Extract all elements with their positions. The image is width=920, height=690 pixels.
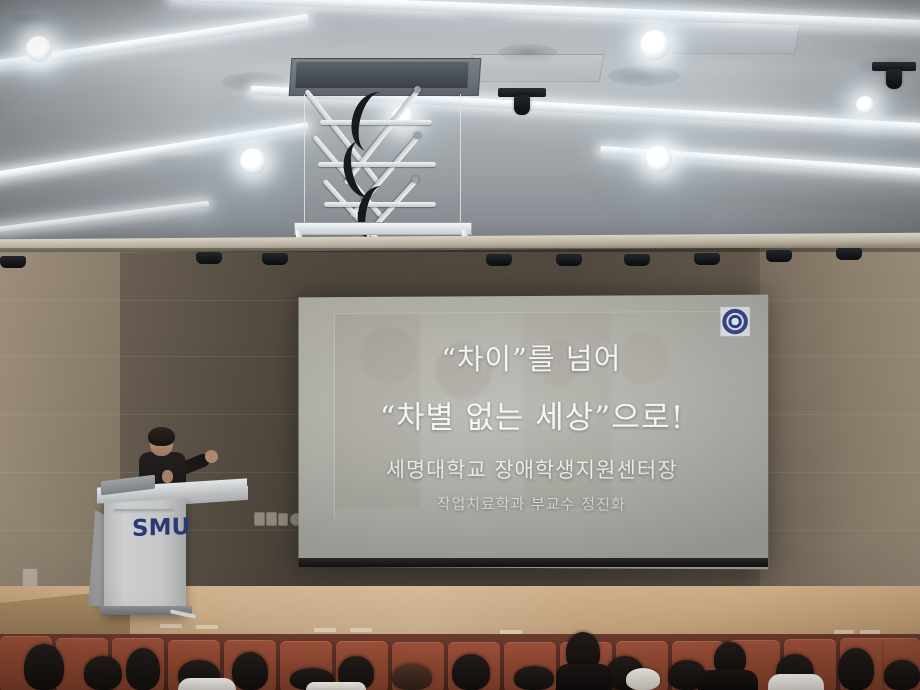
audience-shoulders <box>556 664 612 690</box>
speaker-hand <box>162 470 173 483</box>
wall-spotlight <box>624 254 650 266</box>
auditorium-photo: “차이”를 넘어 “차별 없는 세상”으로! 세명대학교 장애학생지원센터장 작… <box>0 0 920 690</box>
wall-outlet[interactable] <box>254 512 265 526</box>
audience-shoulders <box>698 670 758 690</box>
ceiling-panel <box>468 54 604 82</box>
ceiling-spotlight <box>872 62 916 88</box>
slide-text-block: “차이”를 넘어 “차별 없는 세상”으로! 세명대학교 장애학생지원센터장 작… <box>299 295 769 570</box>
audience-head <box>452 654 490 690</box>
screen-surface: “차이”를 넘어 “차별 없는 세상”으로! 세명대학교 장애학생지원센터장 작… <box>299 295 769 570</box>
ceiling-lamp <box>640 30 670 60</box>
wall-spotlight <box>766 250 792 262</box>
ceiling-panel <box>661 22 801 54</box>
spotlight-head <box>514 95 530 115</box>
wall-spotlight <box>486 254 512 266</box>
screen-bottom-bar <box>299 558 769 567</box>
stage-floor-marker <box>350 628 372 632</box>
lift-frame-top <box>294 222 472 235</box>
wall-spotlight <box>196 252 222 264</box>
lift-hinge <box>414 132 421 139</box>
audience-head <box>126 648 160 690</box>
audience-head <box>84 656 122 690</box>
slide-subtitle-line-2: 작업치료학과 부교수 정진화 <box>437 493 626 515</box>
lift-hinge <box>412 176 419 183</box>
audience-head <box>24 644 64 690</box>
lift-hinge <box>414 86 421 93</box>
wall-outlet[interactable] <box>266 512 277 526</box>
podium-logo-text: SMU <box>132 514 190 542</box>
audience-head <box>838 648 874 690</box>
ceiling-lamp <box>240 148 266 174</box>
ceiling-lamp <box>646 146 672 172</box>
ceiling-lamp <box>26 36 52 62</box>
ceiling-diffuser <box>0 10 56 28</box>
stage-floor-marker <box>196 625 218 629</box>
ceiling-lamp <box>856 96 874 114</box>
speaker-hair <box>148 427 175 446</box>
projection-screen: “차이”를 넘어 “차별 없는 세상”으로! 세명대학교 장애학생지원센터장 작… <box>299 295 769 570</box>
audience-head <box>626 668 660 690</box>
audience-shoulders <box>306 682 366 690</box>
speaker-hand <box>205 450 218 463</box>
audience-shoulders <box>768 674 824 690</box>
audience-head <box>232 652 268 690</box>
wall-spotlight <box>556 254 582 266</box>
audience-head <box>392 664 432 690</box>
wall-spotlight <box>0 256 26 268</box>
slide-title-line-2: “차별 없는 세상”으로! <box>380 392 685 437</box>
wall-outlet[interactable] <box>22 568 38 587</box>
lift-wire <box>304 94 305 224</box>
podium-groove <box>113 509 175 514</box>
audience-shoulders <box>178 678 236 690</box>
spotlight-head <box>886 69 902 89</box>
stage-floor-marker <box>160 624 182 628</box>
ceiling-diffuser <box>608 66 680 86</box>
audience-head <box>514 666 554 690</box>
wall-outlet[interactable] <box>278 513 288 526</box>
stage-floor-marker <box>314 628 336 632</box>
slide-subtitle-line-1: 세명대학교 장애학생지원센터장 <box>386 454 678 484</box>
lift-wire <box>460 94 461 224</box>
wall-spotlight <box>694 253 720 265</box>
wall-spotlight <box>262 253 288 265</box>
ceiling-spotlight <box>498 88 546 116</box>
wall-spotlight <box>836 248 862 260</box>
audience-head <box>884 660 920 690</box>
slide-title-line-1: “차이”를 넘어 <box>441 336 621 379</box>
